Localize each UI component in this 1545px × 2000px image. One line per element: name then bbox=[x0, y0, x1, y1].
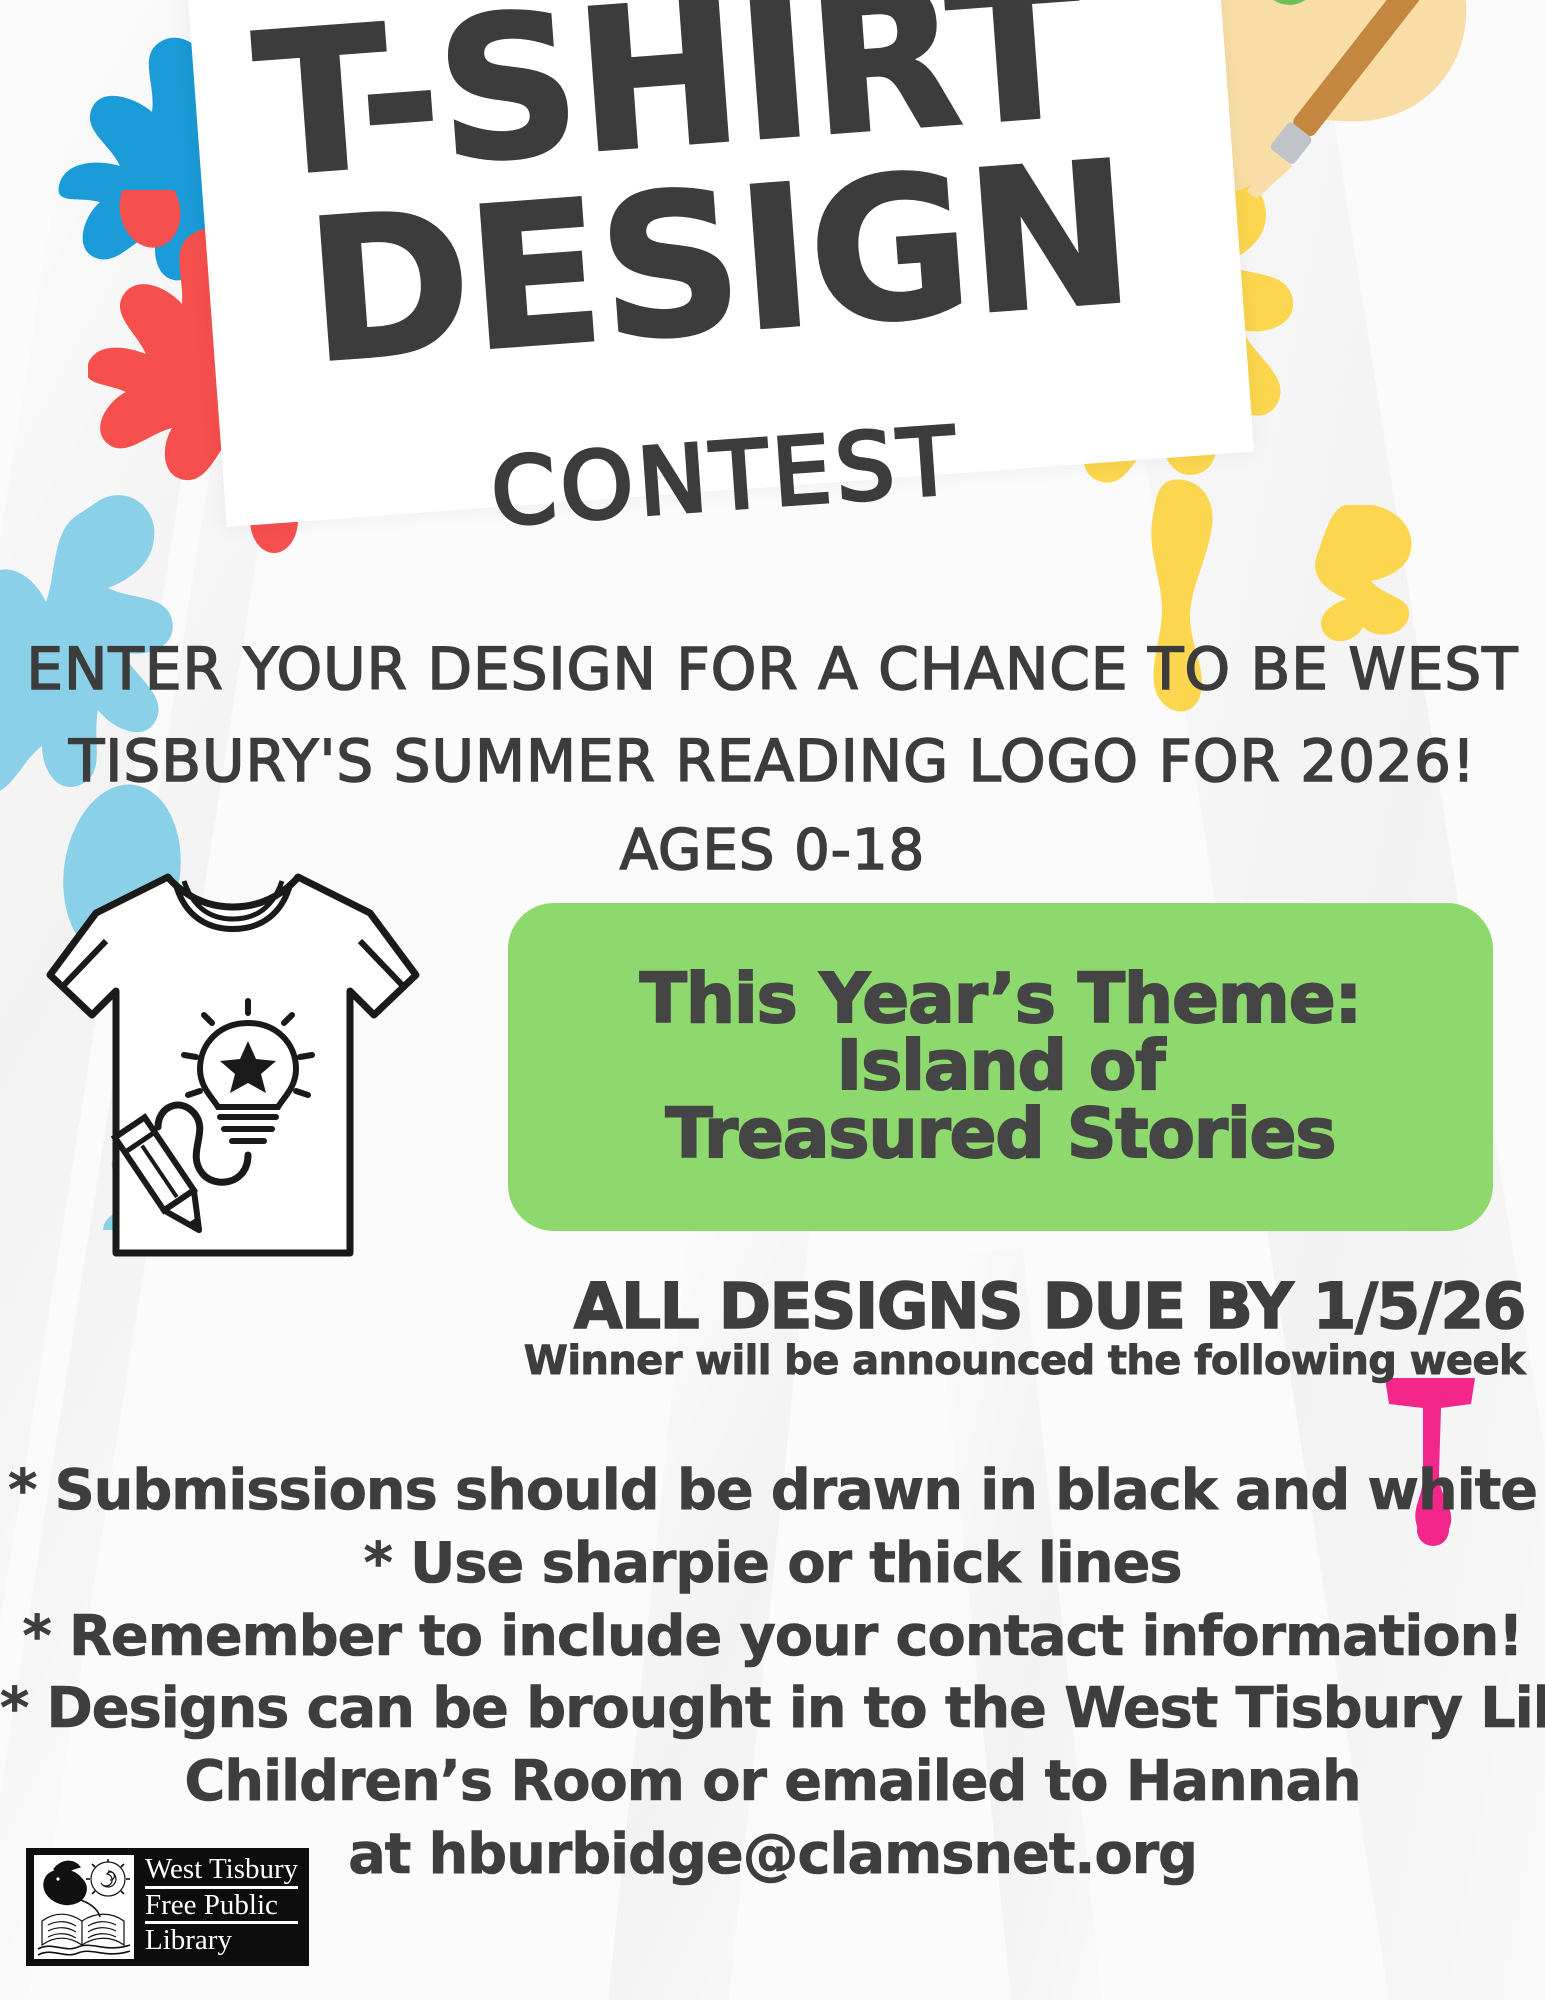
subhead-line-1: ENTER YOUR DESIGN FOR A CHANCE TO BE WES… bbox=[0, 635, 1545, 703]
list-item: * Designs can be brought in to the West … bbox=[0, 1673, 1545, 1746]
deadline-headline: ALL DESIGNS DUE BY 1/5/26 bbox=[0, 1270, 1545, 1343]
list-item: * Remember to include your contact infor… bbox=[0, 1601, 1545, 1674]
theme-callout-box: This Year’s Theme: Island of Treasured S… bbox=[508, 903, 1493, 1231]
theme-line-3: Treasured Stories bbox=[666, 1101, 1336, 1169]
library-name-line-1: West Tisbury bbox=[145, 1855, 298, 1889]
theme-line-2: Island of bbox=[837, 1033, 1165, 1101]
list-item: Children’s Room or emailed to Hannah bbox=[0, 1746, 1545, 1819]
library-logo-text: West Tisbury Free Public Library bbox=[145, 1855, 298, 1959]
library-name-line-2: Free Public bbox=[145, 1891, 298, 1925]
poster-canvas: T-SHIRT DESIGN CONTEST ENTER YOUR DESIGN… bbox=[0, 0, 1545, 2000]
list-item: * Use sharpie or thick lines bbox=[0, 1528, 1545, 1601]
instructions-list: * Submissions should be drawn in black a… bbox=[0, 1455, 1545, 1892]
library-logo: West Tisbury Free Public Library bbox=[26, 1848, 309, 1966]
deadline-subtext: Winner will be announced the following w… bbox=[0, 1338, 1545, 1384]
library-name-line-3: Library bbox=[145, 1926, 298, 1957]
theme-line-1: This Year’s Theme: bbox=[640, 966, 1361, 1034]
library-woodcut-mark-icon bbox=[34, 1855, 134, 1959]
tshirt-illustration-icon bbox=[18, 855, 448, 1275]
list-item: * Submissions should be drawn in black a… bbox=[0, 1455, 1545, 1528]
headline-block: T-SHIRT DESIGN CONTEST bbox=[0, 0, 1545, 640]
subhead-line-2: TISBURY'S SUMMER READING LOGO FOR 2026! bbox=[0, 727, 1545, 795]
